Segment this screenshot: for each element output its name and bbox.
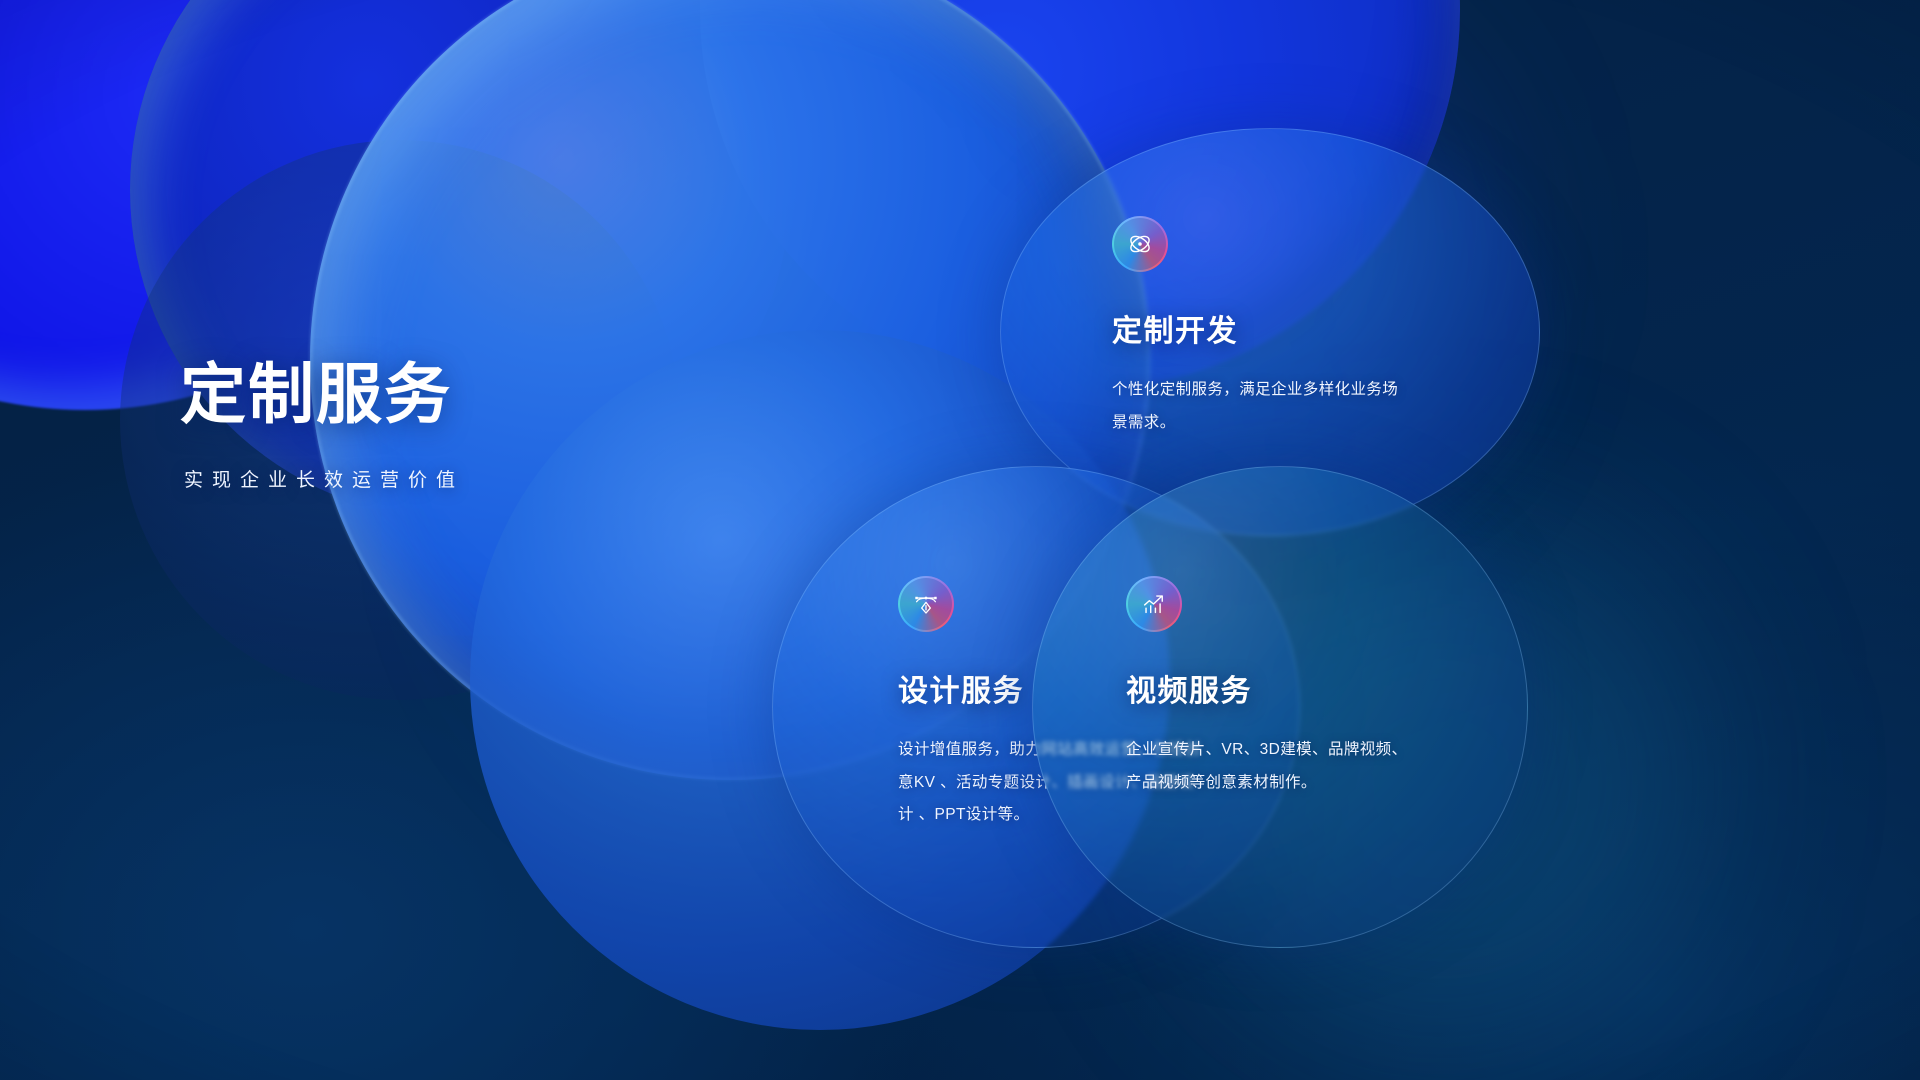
service-card-title: 定制开发	[1112, 306, 1442, 350]
slide-canvas: 定制服务 实现企业长效运营价值 定制开发 个性化定制服务，满足企业多样化业务场景…	[0, 0, 1920, 1080]
hero-text-block: 定制服务 实现企业长效运营价值	[180, 358, 740, 492]
page-title: 定制服务	[180, 358, 740, 431]
service-card-description: 个性化定制服务，满足企业多样化业务场景需求。	[1112, 374, 1404, 439]
service-card-title: 视频服务	[1126, 666, 1456, 710]
service-card-description: 企业宣传片、VR、3D建模、品牌视频、产品视频等创意素材制作。	[1126, 734, 1422, 799]
atom-orbit-icon	[1112, 216, 1168, 272]
service-card-video-service[interactable]: 视频服务 企业宣传片、VR、3D建模、品牌视频、产品视频等创意素材制作。	[1126, 576, 1456, 799]
service-card-custom-development[interactable]: 定制开发 个性化定制服务，满足企业多样化业务场景需求。	[1112, 216, 1442, 439]
page-subtitle: 实现企业长效运营价值	[184, 465, 740, 492]
growth-chart-icon	[1126, 576, 1182, 632]
pen-nib-icon	[898, 576, 954, 632]
